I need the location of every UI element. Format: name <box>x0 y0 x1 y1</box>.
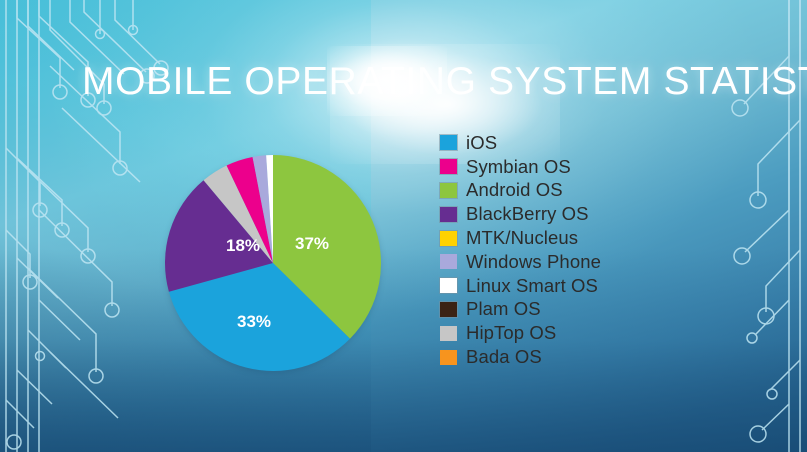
legend-item-label: Windows Phone <box>466 251 601 273</box>
legend-item[interactable]: Android OS <box>440 179 601 203</box>
legend-swatch <box>440 231 457 246</box>
legend-swatch <box>440 183 457 198</box>
page-title: MOBILE OPERATING SYSTEM STATISTICS <box>82 62 722 103</box>
pie-label-android: 37% <box>295 234 329 253</box>
legend-item-label: iOS <box>466 132 497 154</box>
pie-chart-svg: 37% 18% 33% <box>160 150 390 380</box>
legend-item[interactable]: HipTop OS <box>440 321 601 345</box>
legend-swatch <box>440 135 457 150</box>
page-title-text: MOBILE OPERATING SYSTEM STATISTICS <box>82 60 807 103</box>
pie-chart: 37% 18% 33% <box>160 150 390 380</box>
legend-item[interactable]: Plam OS <box>440 298 601 322</box>
legend-item-label: Linux Smart OS <box>466 275 598 297</box>
legend-swatch <box>440 350 457 365</box>
legend-swatch <box>440 207 457 222</box>
legend-item[interactable]: Symbian OS <box>440 155 601 179</box>
pie-label-blackberry: 18% <box>226 236 260 255</box>
chart-legend: iOSSymbian OSAndroid OSBlackBerry OSMTK/… <box>440 131 601 369</box>
legend-item-label: MTK/Nucleus <box>466 227 578 249</box>
legend-item[interactable]: iOS <box>440 131 601 155</box>
legend-item-label: Plam OS <box>466 298 541 320</box>
legend-swatch <box>440 159 457 174</box>
legend-swatch <box>440 302 457 317</box>
pie-slice-group <box>165 155 381 371</box>
legend-item[interactable]: MTK/Nucleus <box>440 226 601 250</box>
legend-item[interactable]: BlackBerry OS <box>440 202 601 226</box>
legend-item-label: Symbian OS <box>466 156 571 178</box>
legend-item-label: Android OS <box>466 179 563 201</box>
legend-item-label: BlackBerry OS <box>466 203 589 225</box>
legend-item-label: Bada OS <box>466 346 542 368</box>
legend-item-label: HipTop OS <box>466 322 556 344</box>
legend-item[interactable]: Windows Phone <box>440 250 601 274</box>
legend-swatch <box>440 326 457 341</box>
legend-item[interactable]: Bada OS <box>440 345 601 369</box>
pie-label-ios: 33% <box>237 312 271 331</box>
legend-swatch <box>440 278 457 293</box>
legend-swatch <box>440 254 457 269</box>
legend-item[interactable]: Linux Smart OS <box>440 274 601 298</box>
slide-canvas: MOBILE OPERATING SYSTEM STATISTICS 37% 1… <box>0 0 807 452</box>
